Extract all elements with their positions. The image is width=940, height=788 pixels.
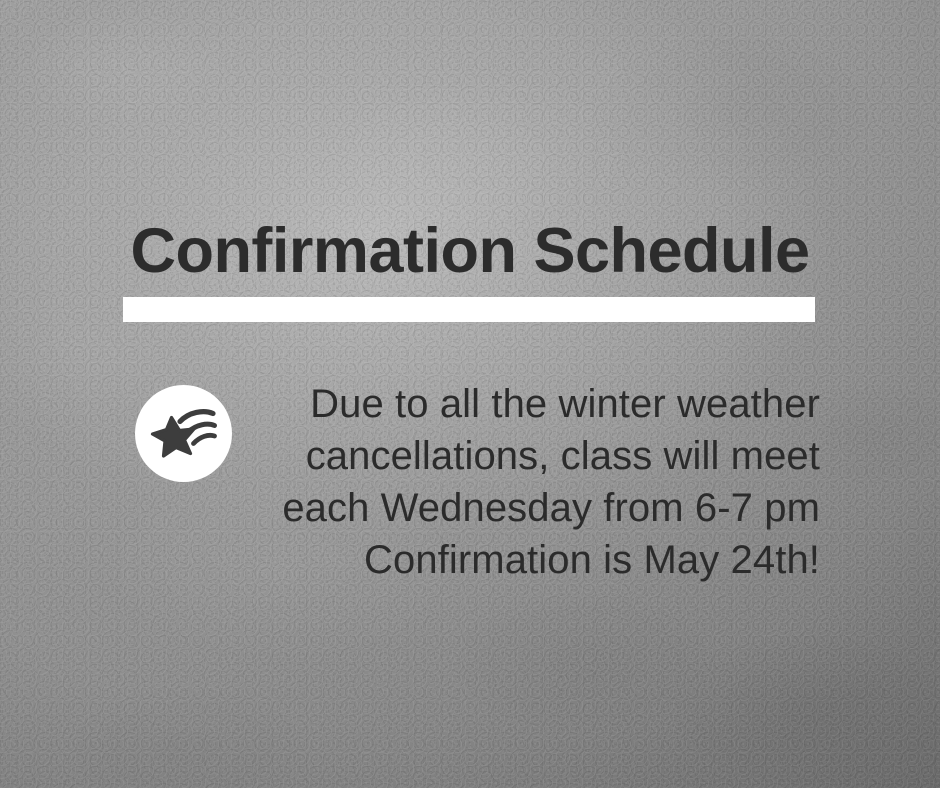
title-divider-bar (123, 297, 815, 322)
poster-content: Confirmation Schedule Due to all the win… (0, 0, 940, 788)
poster-canvas: Confirmation Schedule Due to all the win… (0, 0, 940, 788)
announcement-text: Due to all the winter weather cancellati… (260, 378, 820, 586)
announcement-line: cancellations, class will meet (260, 430, 820, 482)
announcement-line: Due to all the winter weather (260, 378, 820, 430)
page-title: Confirmation Schedule (0, 220, 940, 283)
announcement-line: Confirmation is May 24th! (260, 534, 820, 586)
announcement-line: each Wednesday from 6-7 pm (260, 482, 820, 534)
icon-badge (135, 385, 232, 482)
shooting-star-icon (149, 399, 219, 469)
